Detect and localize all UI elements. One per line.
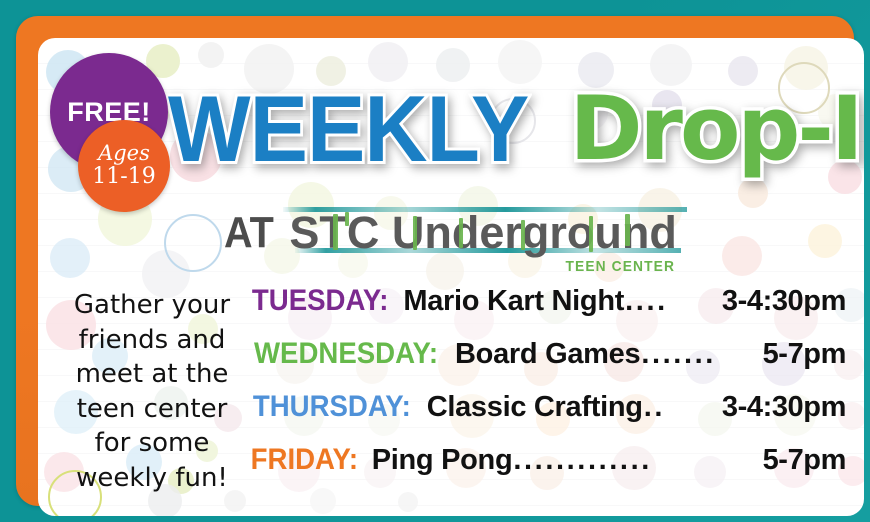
- orange-inner-frame: FREE! Ages 11-19 WEEKLY Drop-Ins AT STC …: [16, 16, 854, 506]
- schedule-time: 3-4:30pm: [722, 393, 846, 422]
- logo-accent-bar-1: [333, 214, 338, 250]
- schedule-row: WEDNESDAY:Board Games.......5-7pm: [246, 339, 846, 392]
- logo-accent-bar-4: [459, 218, 463, 248]
- schedule-leader-dots: .......: [641, 340, 716, 369]
- logo-tagline: TEEN CENTER: [565, 258, 675, 275]
- logo-accent-bar-5: [521, 220, 525, 250]
- schedule-activity: Classic Crafting: [427, 393, 643, 422]
- weekly-schedule-list: TUESDAY:Mario Kart Night....3-4:30pmWEDN…: [246, 286, 846, 498]
- schedule-row: TUESDAY:Mario Kart Night....3-4:30pm: [246, 286, 846, 339]
- subtitle-row: AT STC Underground TEEN CENTER: [224, 210, 677, 255]
- background-dot: [722, 236, 762, 276]
- flyer-poster: FREE! Ages 11-19 WEEKLY Drop-Ins AT STC …: [0, 0, 870, 522]
- logo-accent-bar-7: [625, 214, 630, 246]
- ages-badge: Ages 11-19: [78, 120, 170, 212]
- schedule-day-label: TUESDAY:: [252, 286, 388, 316]
- ages-badge-word: Ages: [98, 143, 150, 164]
- schedule-row: THURSDAY:Classic Crafting..3-4:30pm: [246, 392, 846, 445]
- ages-badge-range: 11-19: [92, 165, 155, 188]
- logo-accent-bar-3: [413, 216, 417, 250]
- schedule-activity: Board Games: [455, 340, 640, 369]
- background-dot: [50, 238, 90, 278]
- subtitle-at-label: AT: [224, 211, 274, 255]
- background-dot: [808, 224, 842, 258]
- logo-accent-bar-2: [345, 212, 349, 226]
- schedule-day-label: FRIDAY:: [251, 445, 358, 475]
- intro-blurb: Gather your friends and meet at the teen…: [56, 288, 248, 495]
- stc-underground-logo: STC Underground TEEN CENTER: [289, 210, 676, 255]
- schedule-leader-dots: .............: [513, 446, 652, 475]
- headline: WEEKLY Drop-Ins: [168, 56, 858, 201]
- headline-word-weekly: WEEKLY: [168, 82, 528, 176]
- background-ring: [164, 214, 222, 272]
- headline-word-dropins: Drop-Ins: [570, 85, 865, 173]
- schedule-activity: Mario Kart Night: [403, 287, 624, 316]
- schedule-day-label: THURSDAY:: [253, 392, 411, 422]
- schedule-row: FRIDAY:Ping Pong.............5-7pm: [246, 445, 846, 498]
- schedule-leader-dots: ..: [644, 393, 665, 422]
- schedule-time: 5-7pm: [763, 340, 846, 369]
- schedule-day-label: WEDNESDAY:: [254, 339, 438, 369]
- schedule-activity: Ping Pong: [372, 446, 513, 475]
- schedule-leader-dots: ....: [625, 287, 668, 316]
- logo-accent-bar-6: [589, 216, 593, 252]
- schedule-time: 3-4:30pm: [722, 287, 846, 316]
- poster-paper-card: FREE! Ages 11-19 WEEKLY Drop-Ins AT STC …: [38, 38, 864, 516]
- schedule-time: 5-7pm: [763, 446, 846, 475]
